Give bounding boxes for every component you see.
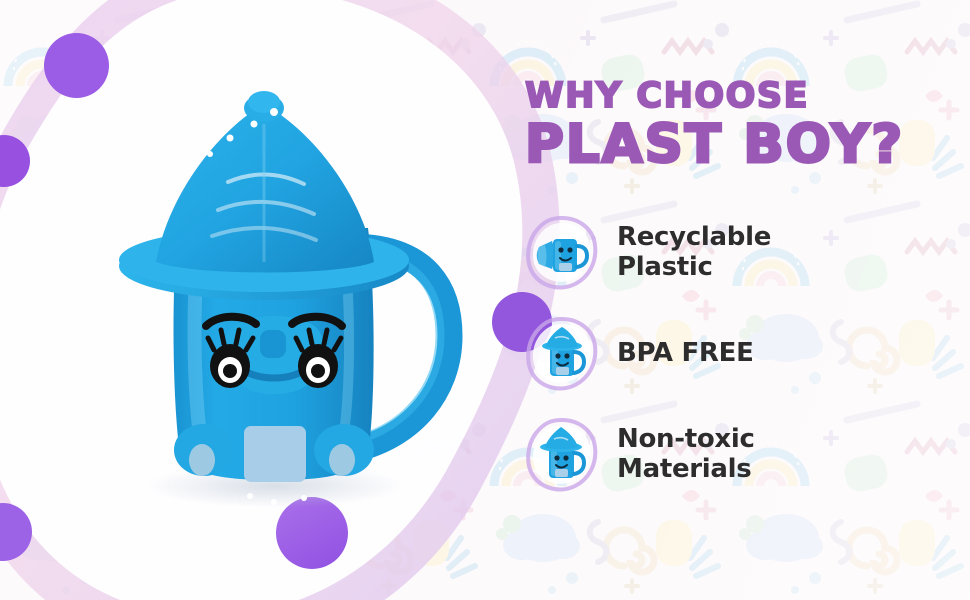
feature-item-non-toxic-materials: Non-toxic Materials: [525, 417, 955, 493]
page-title: WHY CHOOSE PLAST BOY?: [525, 80, 955, 171]
product-image-plast-boy-mug: [78, 78, 468, 518]
feature-list: Recyclable Plastic: [525, 215, 955, 493]
feature-item-bpa-free: BPA FREE: [525, 316, 955, 392]
headline-line-2: PLAST BOY?: [525, 120, 955, 170]
mug-front-view-icon: [525, 417, 599, 493]
promo-banner: WHY CHOOSE PLAST BOY?: [0, 0, 970, 600]
mug-with-hat-icon: [525, 316, 599, 392]
mug-with-lid-off-icon: [525, 215, 599, 291]
headline-line-1: WHY CHOOSE: [525, 80, 955, 113]
feature-label: Recyclable Plastic: [617, 223, 771, 281]
feature-item-recyclable-plastic: Recyclable Plastic: [525, 215, 955, 291]
feature-label: Non-toxic Materials: [617, 425, 755, 483]
feature-label: BPA FREE: [617, 339, 754, 368]
content-column: WHY CHOOSE PLAST BOY?: [525, 80, 955, 510]
